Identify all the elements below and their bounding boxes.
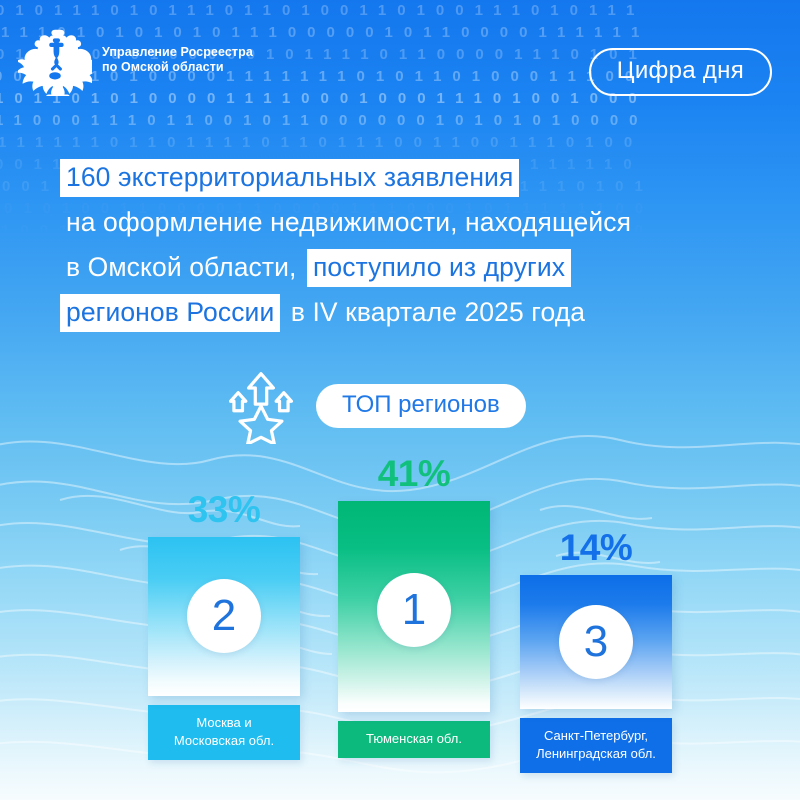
region-label-rank-2-line1: Москва и [152,714,296,732]
headline-segment-1-1: 160 экстерриториальных заявления [60,159,519,197]
organization-name-line1: Управление Росреестра [102,45,253,60]
rank-medal-3: 3 [559,605,633,679]
headline-segment-4-2: в IV квартале 2025 года [285,294,591,332]
headline-line-3: в Омской области, поступило из других [60,248,760,291]
headline-line-1: 160 экстерриториальных заявления [60,158,760,201]
digit-of-the-day-badge: Цифра дня [589,48,772,96]
chart-column-rank-1: 41% 1 Тюменская обл. [338,455,490,758]
bar-rank-1: 1 [338,501,490,712]
region-label-rank-3-line1: Санкт-Петербург, [524,727,668,745]
top-regions-header: ТОП регионов [222,368,526,444]
headline-segment-3-1: в Омской области, [60,249,303,287]
ranking-chart: 41% 1 Тюменская обл. 33% 2 Москва и Моск… [0,455,800,755]
binary-row: 0101110101110110100110100111010111 [0,0,800,22]
star-with-arrows-icon [222,368,300,444]
organization-name-line2: по Омской области [102,60,253,75]
infographic-poster: 0101110101110110100110100111010111111010… [0,0,800,800]
region-label-rank-1: Тюменская обл. [338,721,490,758]
headline-segment-4-1: регионов России [60,294,280,332]
rosreestr-eagle-emblem-icon [18,24,92,96]
header: Управление Росреестра по Омской области [18,24,253,96]
bar-rank-2: 2 [148,537,300,696]
region-label-rank-2-line2: Московская обл. [152,732,296,750]
percent-label-rank-1: 41% [378,455,451,492]
headline-line-2: на оформление недвижимости, находящейся [60,203,760,246]
percent-label-rank-3: 14% [560,529,633,566]
chart-column-rank-3: 14% 3 Санкт-Петербург, Ленинградская обл… [520,529,672,773]
headline-segment-2-1: на оформление недвижимости, находящейся [60,204,637,242]
rank-medal-2: 2 [187,579,261,653]
rank-medal-1: 1 [377,573,451,647]
binary-row: 1111110110111101101110011001110100 [0,132,800,154]
chart-column-rank-2: 33% 2 Москва и Московская обл. [148,491,300,760]
region-label-rank-3-line2: Ленинградская обл. [524,745,668,763]
region-label-rank-1-line1: Тюменская обл. [342,730,486,748]
region-label-rank-3: Санкт-Петербург, Ленинградская обл. [520,718,672,773]
headline-line-4: регионов России в IV квартале 2025 года [60,293,760,336]
bar-rank-3: 3 [520,575,672,709]
headline-segment-3-2: поступило из других [307,249,571,287]
percent-label-rank-2: 33% [188,491,261,528]
headline-text: 160 экстерриториальных заявленияна оформ… [60,158,760,338]
region-label-rank-2: Москва и Московская обл. [148,705,300,760]
top-regions-badge: ТОП регионов [316,384,526,428]
organization-name: Управление Росреестра по Омской области [102,45,253,75]
binary-row: 1100011101100101100000010101010000 [0,110,800,132]
